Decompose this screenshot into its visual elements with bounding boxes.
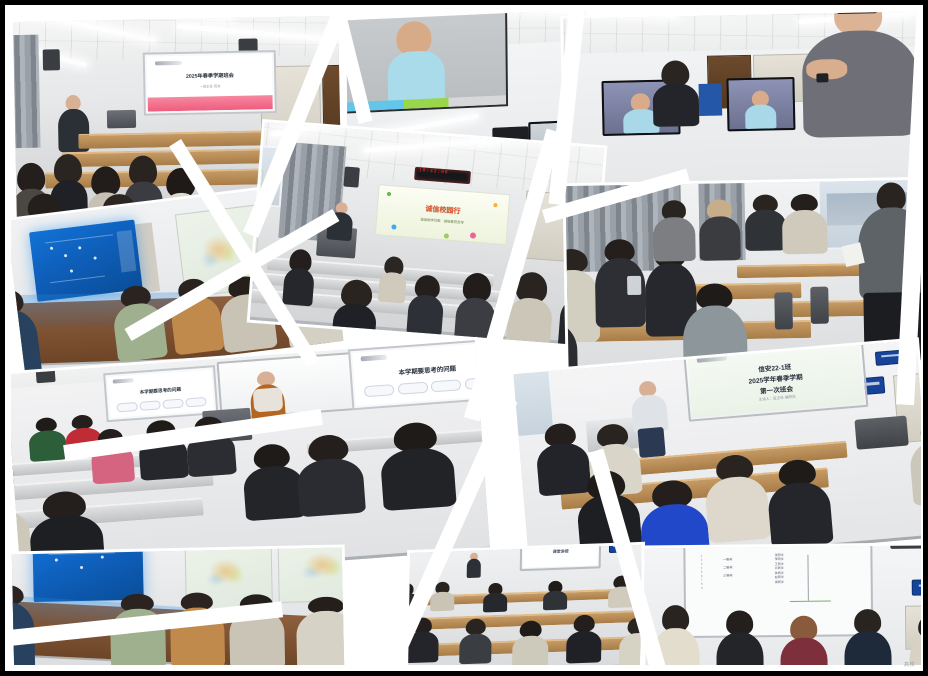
led-clock: 10:42:08 (419, 169, 449, 176)
panel-class-meeting-title-slide[interactable]: 信安22-1班 2025学年春季学期 第一次班会 主讲人：班主任·辅导员 (513, 340, 923, 571)
collage-frame: 2025年春季学期班会 一班主任·班会 (0, 0, 928, 676)
margin-left (5, 5, 11, 671)
slide-title-left: 本学期要思考的问题 (108, 385, 212, 399)
slide-opening-meeting: 2025年春季学期班会 一班主任·班会 (147, 55, 273, 112)
slide-title: 2025年春季学期班会 (147, 71, 272, 80)
panel-meeting-room-blue-display-2[interactable] (12, 548, 344, 671)
slide-title-right: 本学期要思考的问题 (354, 360, 490, 380)
slide-title: 课堂讲授 (523, 547, 598, 556)
collage-canvas: 2025年春季学期班会 一班主任·班会 (5, 5, 923, 671)
corner-watermark: 高校 (904, 661, 915, 668)
panel-teacher-gesturing-computer-lab[interactable]: RedPlayer (563, 11, 923, 200)
margin-bottom (5, 665, 923, 671)
margin-top (5, 5, 923, 11)
panel-dual-screen-questions-class[interactable]: 10:42:08 本学期要思考的问题 (6, 340, 490, 584)
margin-right (921, 5, 923, 671)
integrity-campus-banner: 诚信校园行 诚信助学贷款 · 诚信教育宣传 (375, 185, 511, 245)
panel-seminar-students-discussion[interactable] (565, 180, 923, 368)
slide-subtitle: 一班主任·班会 (148, 82, 273, 89)
panel-group-photo-in-front-of-whiteboard[interactable]: A B 123456789 一等奖二等奖三等奖 张同学李同学王同学刘同学陈同学赵… (644, 546, 923, 671)
